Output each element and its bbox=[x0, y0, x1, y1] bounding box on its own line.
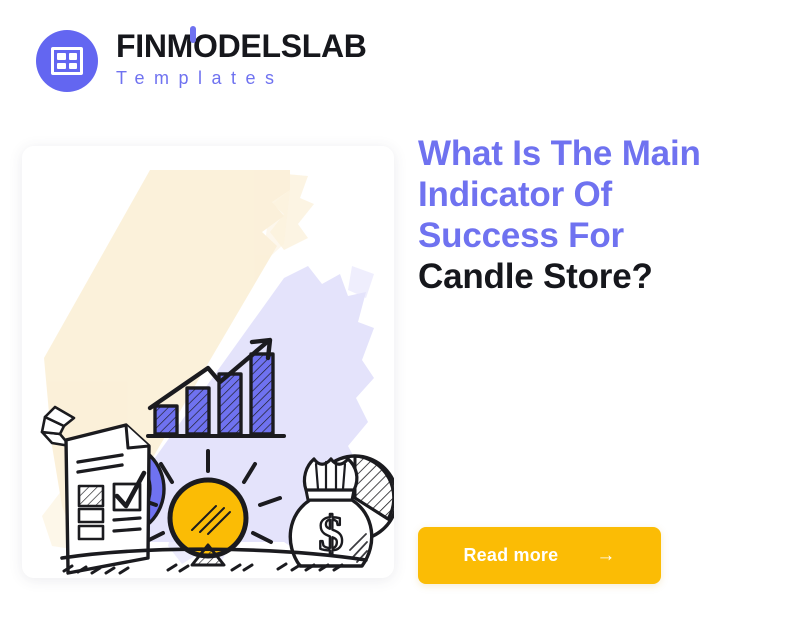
headline-block: What Is The Main Indicator Of Success Fo… bbox=[418, 134, 768, 298]
grid-cell bbox=[69, 53, 78, 60]
read-more-button[interactable]: Read more → bbox=[418, 527, 661, 584]
business-success-doodle-illustration: $ bbox=[22, 146, 394, 578]
headline-line-2: Indicator Of bbox=[418, 175, 768, 216]
brand-text: FINMODELSLAB Templates bbox=[116, 30, 367, 92]
illustration-card: $ bbox=[22, 146, 394, 578]
dollar-sign-glyph: $ bbox=[319, 505, 344, 561]
brand-wordmark: FINMODELSLAB bbox=[116, 30, 367, 63]
grid-cell bbox=[57, 53, 66, 60]
headline-line-3: Success For bbox=[418, 216, 768, 257]
brand-logo[interactable]: FINMODELSLAB Templates bbox=[36, 30, 367, 92]
brand-tagline: Templates bbox=[116, 65, 367, 92]
headline-line-1: What Is The Main bbox=[418, 134, 768, 175]
finmodelslab-logo-icon bbox=[36, 30, 98, 92]
grid-cell bbox=[69, 63, 78, 70]
page-title: What Is The Main Indicator Of Success Fo… bbox=[418, 134, 768, 298]
headline-subject: Candle Store? bbox=[418, 257, 768, 298]
promo-banner: FINMODELSLAB Templates bbox=[0, 0, 800, 618]
grid-squares-icon bbox=[51, 47, 83, 75]
arrow-right-icon: → bbox=[596, 546, 615, 565]
power-mark-icon bbox=[190, 26, 196, 43]
brand-wordmark-text: FINMODELSLAB bbox=[116, 28, 367, 64]
read-more-label: Read more bbox=[463, 545, 558, 566]
grid-cell bbox=[57, 63, 66, 70]
